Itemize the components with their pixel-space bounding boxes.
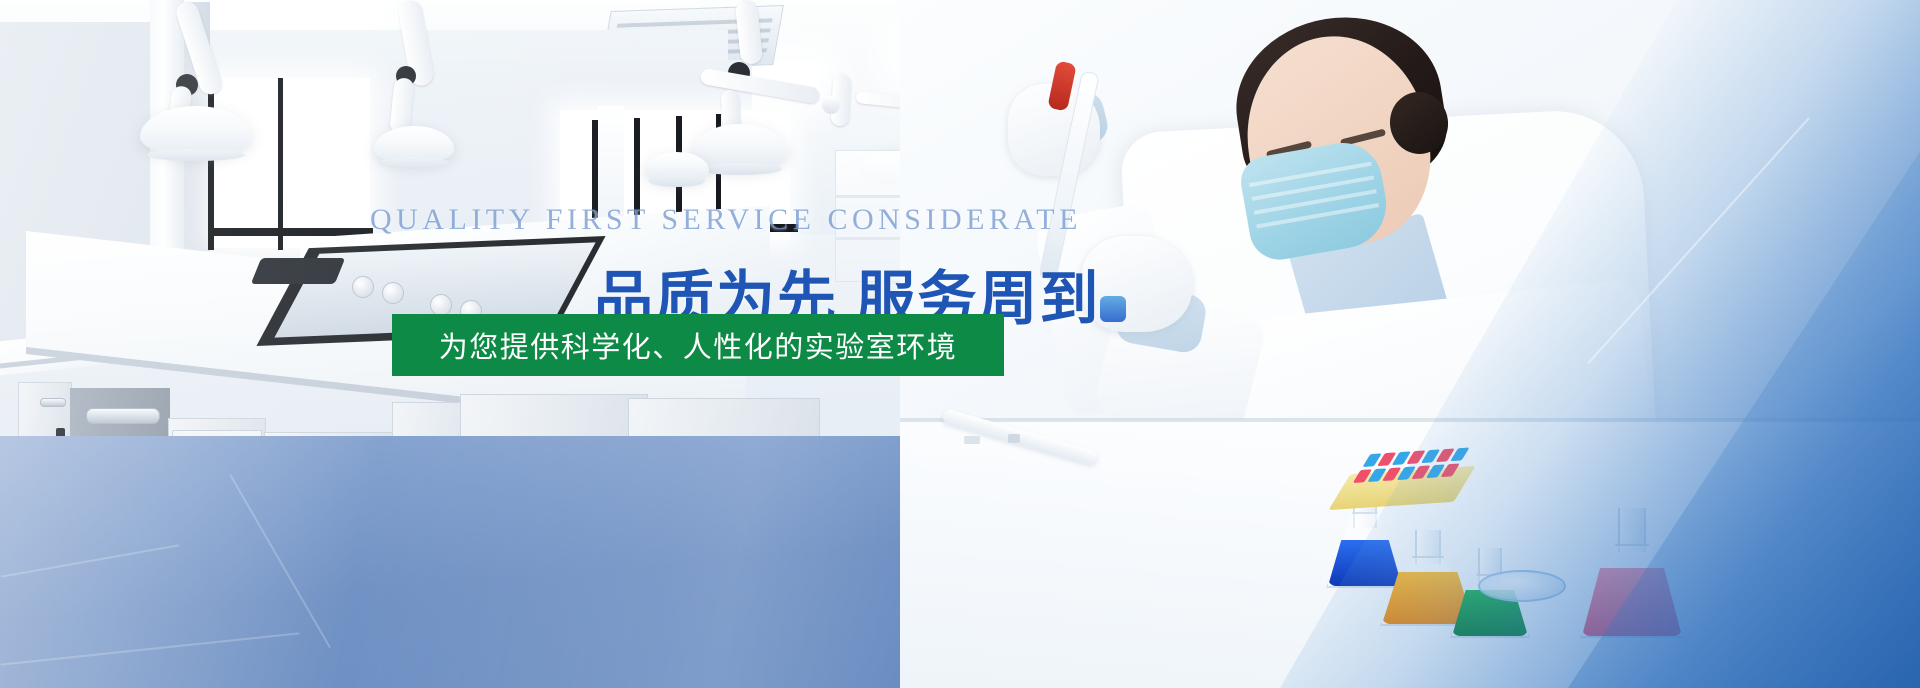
banner-copy-overlay: QUALITY FIRST SERVICE CONSIDERATE 品质为先 服… [0, 0, 1920, 688]
banner-eyebrow-english: QUALITY FIRST SERVICE CONSIDERATE [370, 203, 1082, 237]
banner-subtitle-band: 为您提供科学化、人性化的实验室环境 [392, 314, 1004, 376]
banner-subtitle-text: 为您提供科学化、人性化的实验室环境 [439, 324, 958, 366]
lab-hero-banner: QUALITY FIRST SERVICE CONSIDERATE 品质为先 服… [0, 0, 1920, 688]
